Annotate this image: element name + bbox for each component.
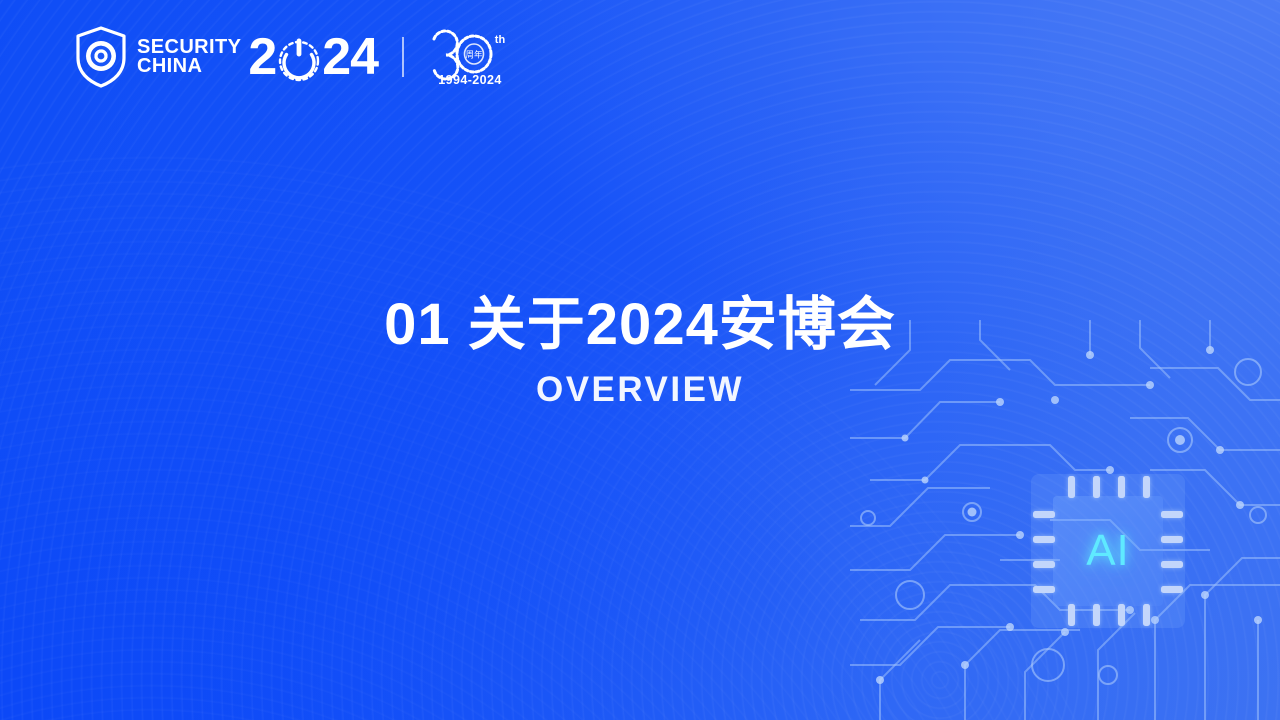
- chip-pin-left-2: [1033, 536, 1055, 543]
- svg-text:周年: 周年: [466, 50, 484, 61]
- chip-pin-top-4: [1143, 476, 1150, 498]
- wordmark-line-china: CHINA: [137, 57, 241, 76]
- chip-pin-bottom-2: [1093, 604, 1100, 626]
- svg-text:th: th: [495, 34, 506, 46]
- chip-pin-left-3: [1033, 561, 1055, 568]
- chip-pin-top-2: [1093, 476, 1100, 498]
- brand-wordmark: SECURITY CHINA: [137, 38, 241, 76]
- chip-pin-right-1: [1161, 511, 1183, 518]
- chip-pin-top-3: [1118, 476, 1125, 498]
- chip-pin-left-1: [1033, 511, 1055, 518]
- chip-pin-bottom-3: [1118, 604, 1125, 626]
- page-subtitle: OVERVIEW: [0, 370, 1280, 410]
- chip-ai-label: AI: [1053, 496, 1163, 606]
- slide-canvas: AI SECURITY CHINA 2: [0, 0, 1280, 720]
- ai-chip-graphic: AI: [1035, 478, 1181, 624]
- brand-year: 2 24: [248, 31, 378, 83]
- chip-pin-right-3: [1161, 561, 1183, 568]
- page-title: 01 关于2024安博会: [0, 294, 1280, 357]
- year-prefix: 2: [248, 31, 276, 83]
- chip-pin-bottom-1: [1068, 604, 1075, 626]
- logo-divider: [402, 37, 404, 77]
- svg-text:1994-2024: 1994-2024: [438, 73, 501, 87]
- power-button-icon: [277, 36, 321, 82]
- chip-pin-top-1: [1068, 476, 1075, 498]
- chip-pin-right-4: [1161, 586, 1183, 593]
- brand-logo-lockup[interactable]: SECURITY CHINA 2 24 周年: [74, 26, 516, 88]
- chip-pin-left-4: [1033, 586, 1055, 593]
- section-title-block: 01 关于2024安博会 OVERVIEW: [0, 294, 1280, 410]
- anniversary-badge: 周年 th 1994-2024: [424, 26, 516, 88]
- year-suffix: 24: [322, 31, 378, 83]
- chip-pin-bottom-4: [1143, 604, 1150, 626]
- shield-logo-icon: [74, 26, 128, 88]
- chip-pin-right-2: [1161, 536, 1183, 543]
